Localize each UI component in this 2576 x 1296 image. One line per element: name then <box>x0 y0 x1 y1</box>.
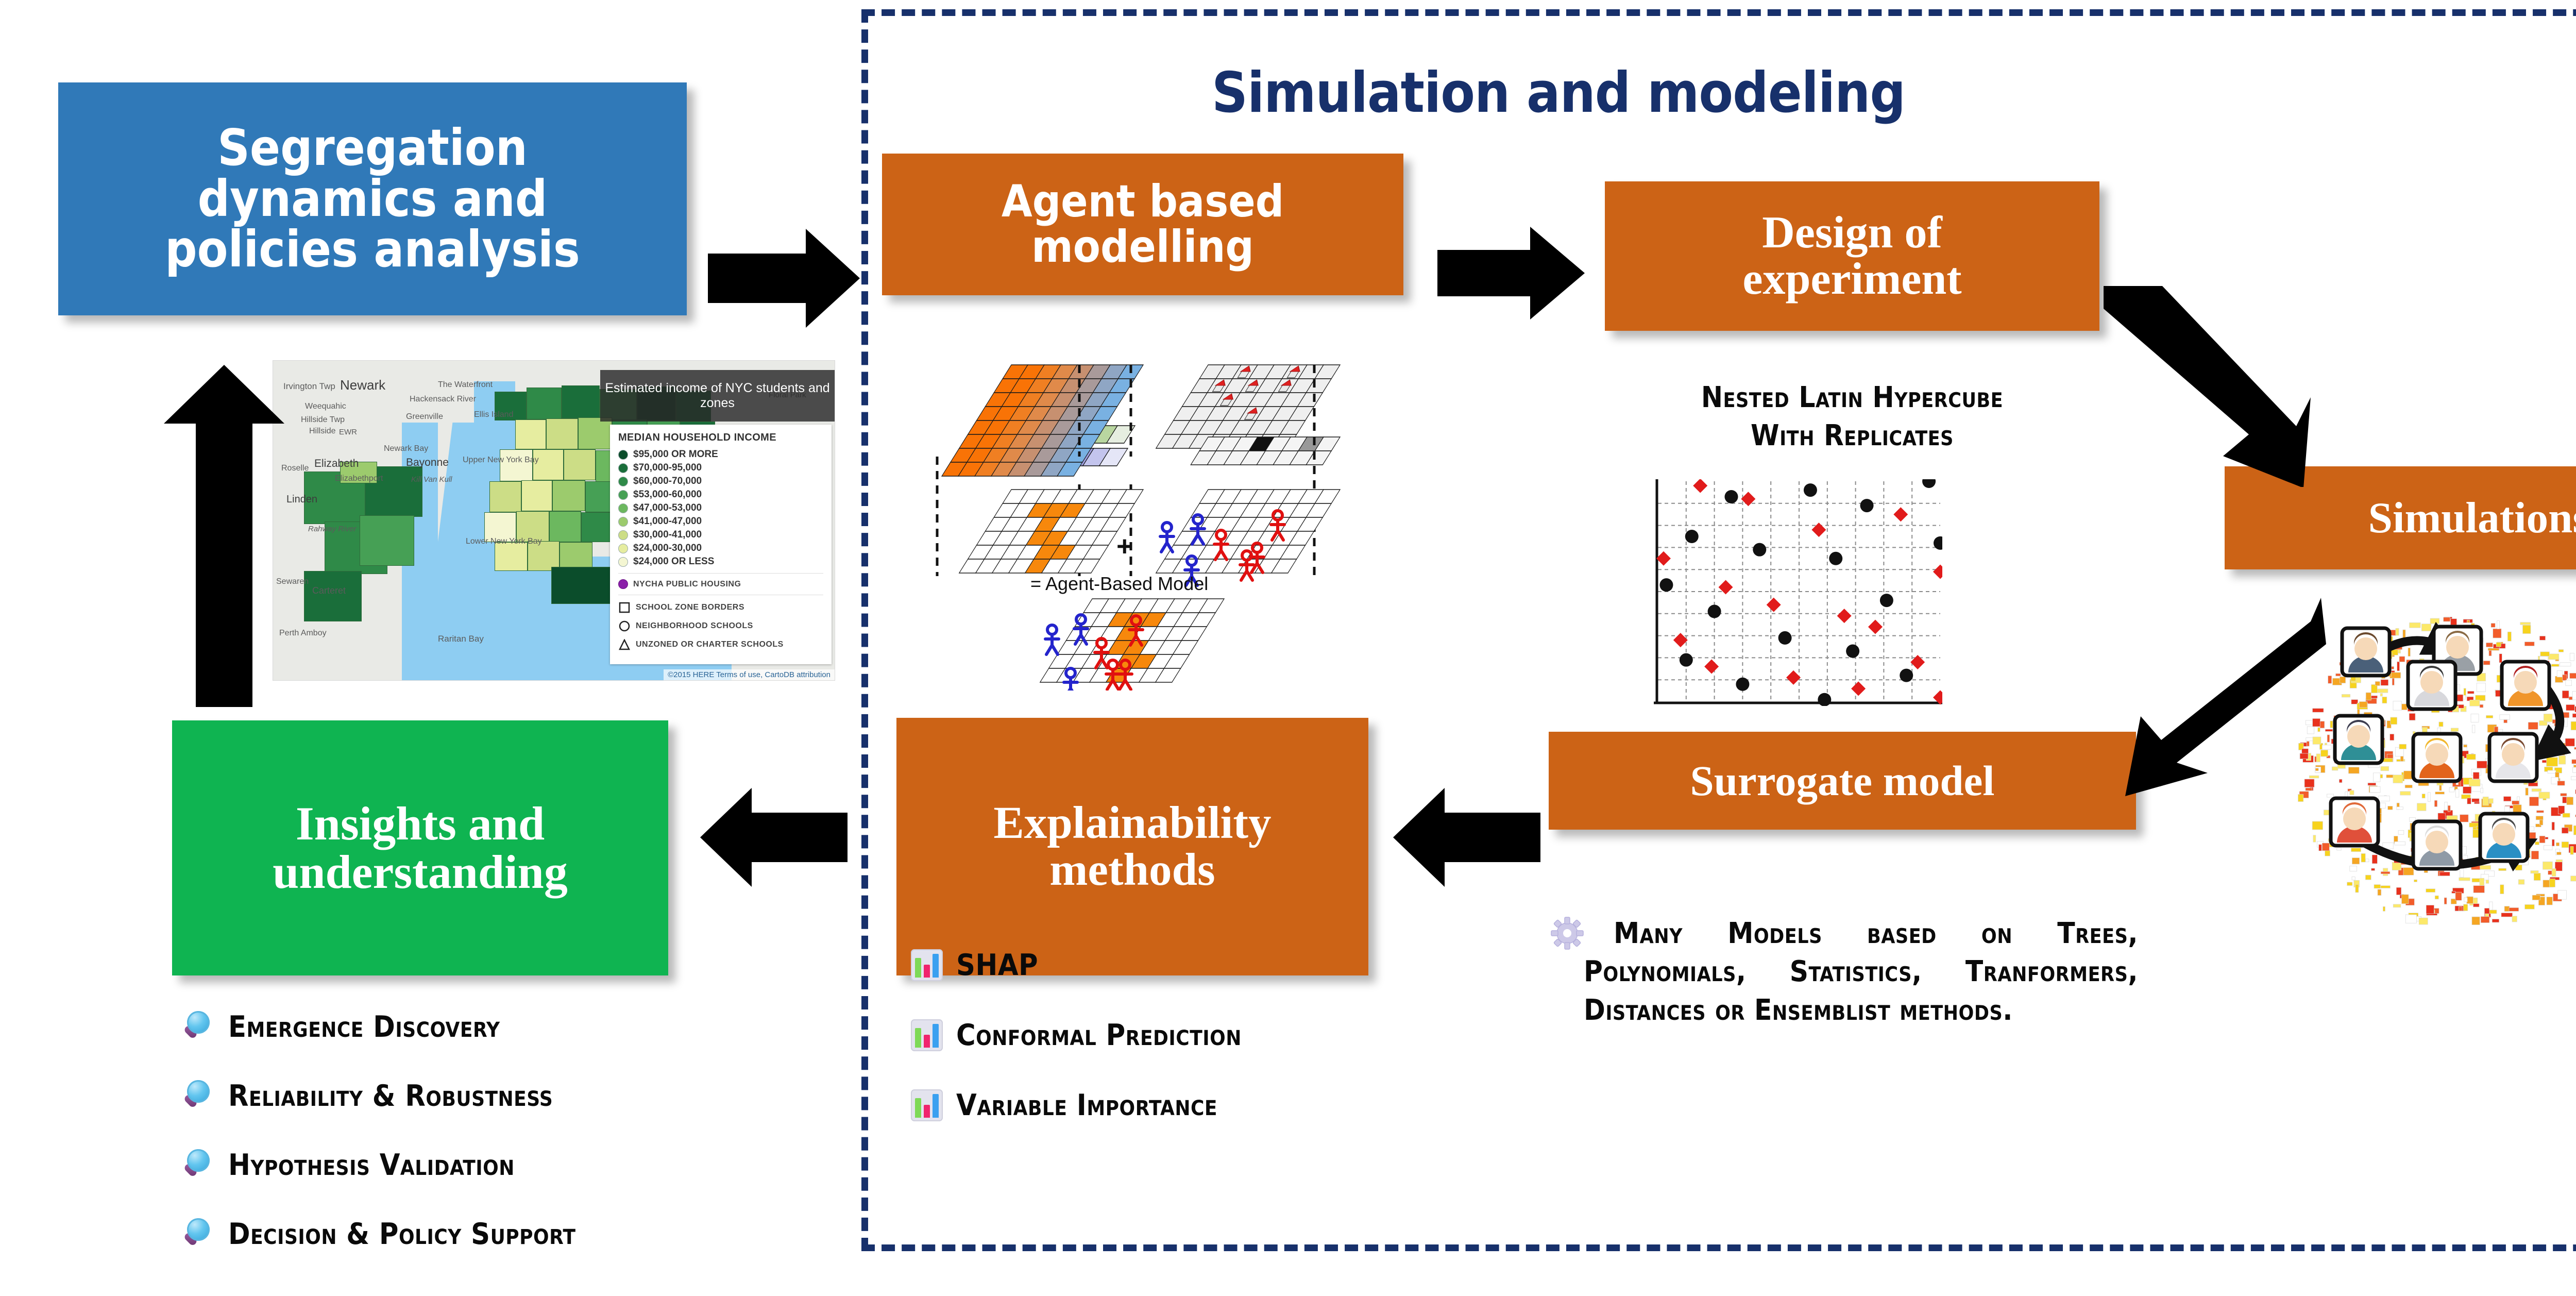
doe-caption: Nested Latin Hypercube With Replicates <box>1605 379 2099 455</box>
map-legend-heading: MEDIAN HOUSEHOLD INCOME <box>618 432 823 444</box>
legend-shape-row: UNZONED OR CHARTER SCHOOLS <box>618 638 823 651</box>
legend-shape-row: NEIGHBORHOOD SCHOOLS <box>618 620 823 632</box>
legend-housing-row: NYCHA PUBLIC HOUSING <box>618 579 823 589</box>
map-zone <box>552 480 585 511</box>
arrow-simulations-to-surrogate <box>2110 593 2331 799</box>
arrow-surrogate-to-explainability <box>1391 781 1540 894</box>
map-place-label: Elizabethport <box>335 474 383 483</box>
legend-shape-label: SCHOOL ZONE BORDERS <box>636 603 744 612</box>
income-label: $70,000-95,000 <box>633 462 702 474</box>
income-label: $24,000-30,000 <box>633 543 702 554</box>
legend-income-row: $30,000-41,000 <box>618 529 823 541</box>
map-zone <box>495 542 528 571</box>
income-swatch <box>618 477 628 486</box>
map-zone <box>549 511 581 542</box>
map-zone <box>562 385 600 418</box>
legend-income-row: $95,000 OR MORE <box>618 449 823 460</box>
charter-school-triangle-icon <box>618 638 631 651</box>
legend-income-row: $70,000-95,000 <box>618 462 823 474</box>
legend-income-row: $53,000-60,000 <box>618 489 823 500</box>
explainability-methods-box[interactable]: Explainability methods <box>896 718 1368 975</box>
map-place-label: Raritan Bay <box>438 634 484 644</box>
nycha-label: NYCHA PUBLIC HOUSING <box>633 580 741 589</box>
insights-line-1: Insights and <box>296 800 545 848</box>
legend-shape-label: NEIGHBORHOOD SCHOOLS <box>636 621 753 631</box>
latin-hypercube-scatter <box>1654 479 1942 706</box>
magnifier-icon <box>183 1218 215 1250</box>
arrow-segregation-to-abm <box>708 222 862 335</box>
map-place-label: Bayonne <box>406 457 449 469</box>
segregation-box[interactable]: Segregation dynamics and policies analys… <box>58 82 687 315</box>
insight-label: Hypothesis Validation <box>228 1148 515 1182</box>
explainability-line-1: Explainability <box>993 800 1271 847</box>
income-swatch <box>618 557 628 567</box>
surrogate-label: Surrogate model <box>1690 759 1995 803</box>
insight-item[interactable]: Decision & Policy Support <box>183 1217 827 1251</box>
map-zone <box>304 571 362 621</box>
explainability-label: Variable Importance <box>956 1088 1217 1122</box>
map-zone <box>564 449 596 480</box>
explainability-label: SHAP <box>956 948 1038 982</box>
map-place-label: Elizabeth <box>314 458 359 470</box>
insight-label: Decision & Policy Support <box>228 1217 576 1251</box>
map-place-label: Ellis Island <box>474 410 513 419</box>
map-zone <box>489 481 521 512</box>
simulations-label: Simulations <box>2368 496 2576 541</box>
agent-avatar <box>2480 814 2528 861</box>
insight-item[interactable]: Reliability & Robustness <box>183 1079 827 1113</box>
map-place-label: Hillside Twp <box>301 415 345 425</box>
income-swatch <box>618 503 628 513</box>
income-label: $60,000-70,000 <box>633 476 702 487</box>
surrogate-note-text: Many Models based on Trees, Polynomials,… <box>1584 915 2138 1030</box>
income-label: $24,000 OR LESS <box>633 556 714 567</box>
insights-list: Emergence DiscoveryReliability & Robustn… <box>183 1010 827 1286</box>
income-label: $47,000-53,000 <box>633 502 702 514</box>
income-swatch <box>618 544 628 553</box>
doe-line-1: Design of <box>1762 210 1942 256</box>
legend-shape-label: UNZONED OR CHARTER SCHOOLS <box>636 640 784 649</box>
agent-avatar <box>2335 716 2382 763</box>
arrow-doe-to-simulations <box>2099 281 2321 487</box>
explainability-item[interactable]: Conformal Prediction <box>911 1018 1529 1052</box>
explainability-label: Conformal Prediction <box>956 1018 1242 1052</box>
map-place-label: Newark <box>340 377 385 393</box>
map-place-label: Upper New York Bay <box>463 456 539 465</box>
bar-chart-icon <box>911 1019 943 1051</box>
income-label: $53,000-60,000 <box>633 489 702 500</box>
map-place-label: Kill Van Kull <box>411 475 452 484</box>
doe-caption-line-1: Nested Latin Hypercube <box>1605 379 2099 417</box>
magnifier-icon <box>183 1011 215 1043</box>
agent-avatar <box>2413 734 2461 781</box>
income-swatch <box>618 490 628 500</box>
legend-divider <box>618 573 823 574</box>
income-swatch <box>618 530 628 540</box>
explainability-item[interactable]: SHAP <box>911 948 1529 982</box>
abm-line-1: Agent based <box>1002 179 1284 225</box>
arrow-insights-to-segregation <box>160 361 289 711</box>
map-legend-bins: $95,000 OR MORE$70,000-95,000$60,000-70,… <box>618 449 823 567</box>
legend-income-row: $47,000-53,000 <box>618 502 823 514</box>
gear-icon <box>1551 917 1584 950</box>
insight-label: Reliability & Robustness <box>228 1079 553 1113</box>
nyc-income-map[interactable]: Irvington Twp Newark The Waterfront Hack… <box>273 361 835 680</box>
map-zone <box>515 419 546 449</box>
legend-income-row: $24,000 OR LESS <box>618 556 823 567</box>
legend-income-row: $41,000-47,000 <box>618 516 823 527</box>
explainability-list: SHAPConformal PredictionVariable Importa… <box>911 948 1529 1158</box>
income-label: $30,000-41,000 <box>633 529 702 541</box>
nycha-swatch <box>618 579 628 589</box>
map-place-label: Hackensack River <box>410 395 476 404</box>
map-place-label: Rahway River <box>308 525 356 533</box>
map-zone <box>533 449 564 480</box>
segregation-line-1: Segregation <box>217 123 528 174</box>
map-place-label: Linden <box>286 494 317 506</box>
bar-chart-icon <box>911 1089 943 1121</box>
insight-label: Emergence Discovery <box>228 1010 500 1044</box>
map-place-label: Hillside <box>309 427 336 436</box>
map-zone <box>521 480 552 511</box>
map-place-label: Lower New York Bay <box>466 537 542 546</box>
school-zone-square-icon <box>618 601 631 614</box>
legend-income-row: $60,000-70,000 <box>618 476 823 487</box>
agent-avatar <box>2331 798 2378 846</box>
arrow-abm-to-doe <box>1437 222 1587 325</box>
insights-box[interactable]: Insights and understanding <box>172 720 668 975</box>
bar-chart-icon <box>911 949 943 981</box>
agent-based-modelling-box[interactable]: Agent based modelling <box>882 154 1403 295</box>
legend-income-row: $24,000-30,000 <box>618 543 823 554</box>
agent-avatar <box>2342 628 2389 676</box>
map-title: Estimated income of NYC students and zon… <box>600 370 835 422</box>
agent-avatar <box>2408 662 2455 709</box>
map-place-label: The Waterfront <box>438 380 493 390</box>
map-place-label: Greenville <box>406 412 443 422</box>
doe-line-2: experiment <box>1742 256 1961 302</box>
insight-item[interactable]: Emergence Discovery <box>183 1010 827 1044</box>
abm-line-2: modelling <box>1031 225 1254 270</box>
insights-line-2: understanding <box>273 848 568 897</box>
insight-item[interactable]: Hypothesis Validation <box>183 1148 827 1182</box>
doe-caption-line-2: With Replicates <box>1605 417 2099 455</box>
magnifier-icon <box>183 1149 215 1181</box>
map-place-label: Weequahic <box>305 402 346 411</box>
agent-avatar <box>2502 662 2549 709</box>
agent-avatar <box>2413 821 2461 869</box>
map-legend: MEDIAN HOUSEHOLD INCOME $95,000 OR MORE$… <box>610 425 832 664</box>
map-zone <box>360 515 414 566</box>
abm-equals-label: = Agent-Based Model <box>1030 573 1208 594</box>
segregation-line-2: dynamics and <box>198 174 548 225</box>
legend-divider <box>618 595 823 595</box>
neighborhood-school-circle-icon <box>618 620 631 632</box>
income-label: $95,000 OR MORE <box>633 449 718 460</box>
surrogate-model-box[interactable]: Surrogate model <box>1549 732 2136 830</box>
agent-avatar <box>2489 734 2537 781</box>
svg-text:+: + <box>1116 531 1133 562</box>
map-attribution: ©2015 HERE Terms of use, CartoDB attribu… <box>664 669 835 680</box>
segregation-line-3: policies analysis <box>165 224 580 275</box>
income-swatch <box>618 450 628 460</box>
map-zone <box>546 418 578 449</box>
map-place-label: Carteret <box>312 585 346 596</box>
map-place-label: EWR <box>339 428 357 436</box>
map-place-label: Irvington Twp <box>283 381 335 392</box>
map-place-label: Newark Bay <box>384 444 428 453</box>
panel-title: Simulation and modeling <box>1146 61 1971 125</box>
income-swatch <box>618 463 628 473</box>
map-zone <box>500 449 533 481</box>
explainability-line-2: methods <box>1049 847 1215 894</box>
surrogate-note-wrap: Many Models based on Trees, Polynomials,… <box>1551 915 2138 1030</box>
map-zone <box>527 388 562 419</box>
arrow-explainability-to-insights <box>698 781 848 894</box>
design-of-experiment-box[interactable]: Design of experiment <box>1605 181 2099 331</box>
explainability-item[interactable]: Variable Importance <box>911 1088 1529 1122</box>
agent-based-model-illustration: + = Agent-Based Model <box>925 361 1342 691</box>
magnifier-icon <box>183 1080 215 1112</box>
income-swatch <box>618 517 628 527</box>
income-label: $41,000-47,000 <box>633 516 702 527</box>
map-zone <box>578 417 612 449</box>
legend-shape-row: SCHOOL ZONE BORDERS <box>618 601 823 614</box>
